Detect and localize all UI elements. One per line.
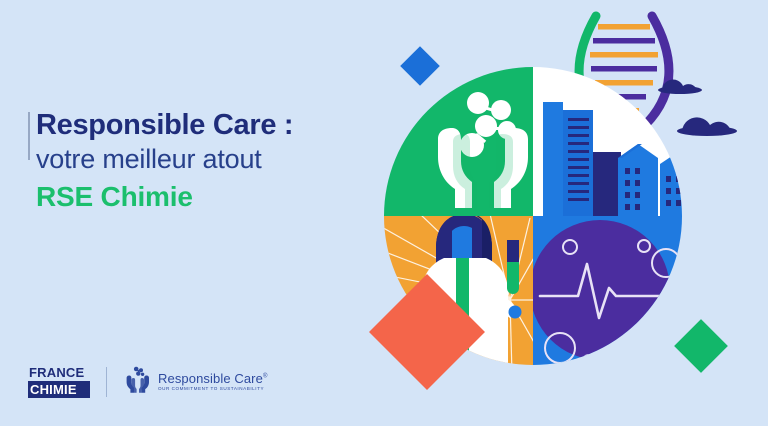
logo-divider [106,367,107,397]
responsible-care-tagline: OUR COMMITMENT TO SUSTAINABILITY [158,387,267,392]
logo-bar: FRANCE CHIMIE [28,364,267,399]
headline-line-1: Responsible Care : [28,108,368,143]
clouds-icon [658,80,737,136]
france-chimie-logo[interactable]: FRANCE CHIMIE [28,365,90,398]
france-chimie-line-1: FRANCE [28,365,90,381]
banner: Responsible Care : votre meilleur atout … [0,0,768,426]
responsible-care-logo[interactable]: Responsible Care® OUR COMMITMENT TO SUST… [123,364,267,399]
hero-illustration [360,0,768,426]
blue-diamond-shape [400,46,440,86]
france-chimie-line-2: CHIMIE [28,381,90,398]
illustration-svg [360,0,768,426]
hands-molecule-icon [123,364,153,399]
accent-rule [28,112,30,160]
headline-line-3: RSE Chimie [28,180,368,214]
headline-line-2: votre meilleur atout [28,143,368,177]
headline-block: Responsible Care : votre meilleur atout … [28,108,368,214]
green-diamond-shape [674,319,728,373]
test-tube-icon [507,240,519,294]
responsible-care-title: Responsible Care® [158,372,267,385]
trademark-symbol: ® [263,373,268,379]
